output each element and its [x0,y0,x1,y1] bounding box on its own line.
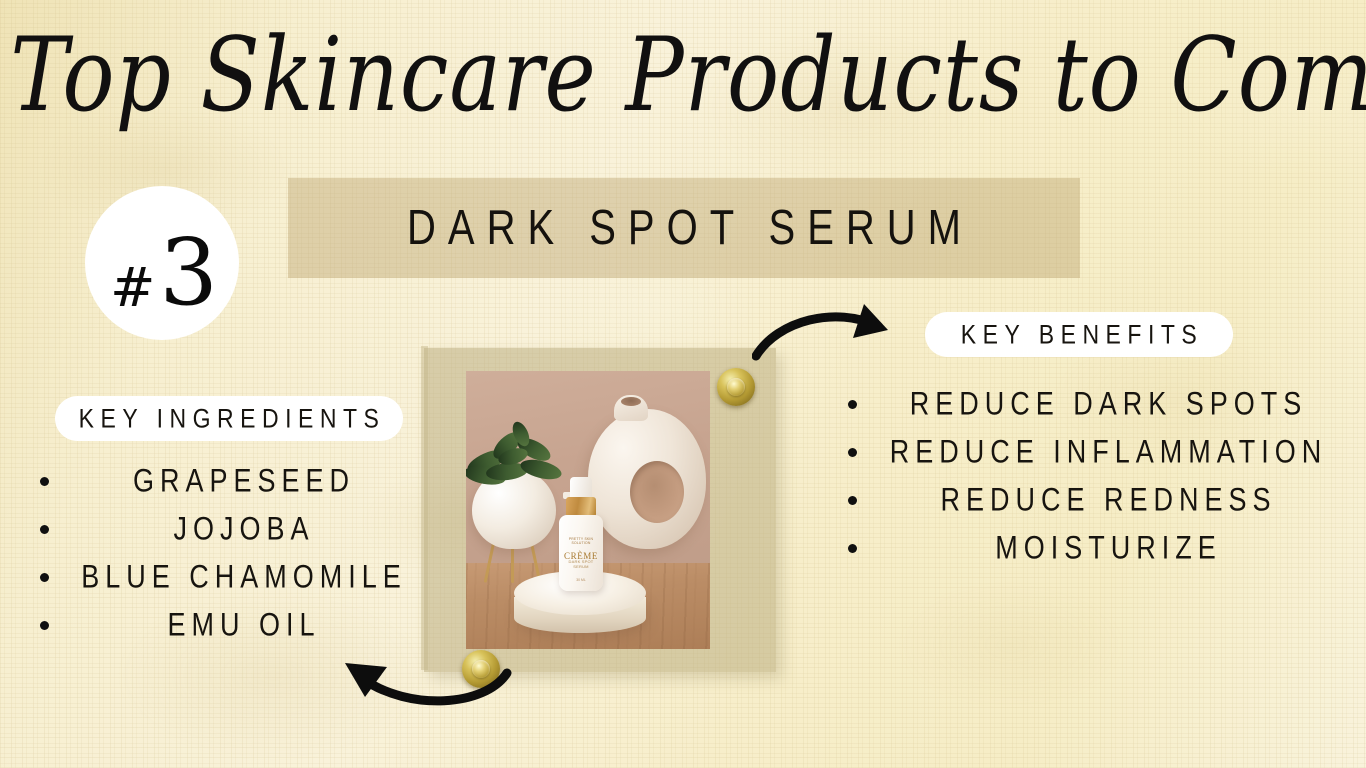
bullet-icon [848,496,857,505]
list-item: REDUCE DARK SPOTS [848,380,1338,428]
key-benefits-list: REDUCE DARK SPOTS REDUCE INFLAMMATION RE… [848,380,1338,572]
bullet-icon [40,477,49,486]
photo-vase-hole [630,461,684,523]
key-ingredients-pill: KEY INGREDIENTS [55,396,403,441]
curved-arrow-left-icon [335,645,515,720]
list-item: BLUE CHAMOMILE [40,553,415,601]
bullet-icon [40,525,49,534]
photo-vase-neck [614,395,648,421]
list-item: REDUCE INFLAMMATION [848,428,1338,476]
photo-succulent-plant [466,423,568,487]
curved-arrow-right-icon [752,300,912,375]
key-benefits-label: KEY BENEFITS [955,319,1203,351]
photo-bottle-pump [570,477,592,499]
list-item: JOJOBA [40,505,415,553]
bullet-icon [848,544,857,553]
photo-bottle-body: PRETTY SKIN SOLUTION CRÈME DARK SPOT SER… [559,515,603,591]
ingredient-label: EMU OIL [67,606,415,643]
product-title-banner: DARK SPOT SERUM [288,178,1080,278]
rank-hash-symbol: # [110,261,155,315]
bullet-icon [848,448,857,457]
rank-badge-inner: # 3 [110,223,218,315]
list-item: EMU OIL [40,601,415,649]
bullet-icon [848,400,857,409]
benefit-label: REDUCE REDNESS [873,481,1338,518]
list-item: GRAPESEED [40,457,415,505]
rank-number: 3 [159,227,218,319]
key-ingredients-list: GRAPESEED JOJOBA BLUE CHAMOMILE EMU OIL [40,457,415,649]
product-photo: PRETTY SKIN SOLUTION CRÈME DARK SPOT SER… [466,371,710,649]
list-item: REDUCE REDNESS [848,476,1338,524]
ingredient-label: GRAPESEED [67,462,415,499]
photo-bottle-size: 30 ML [561,578,601,582]
bullet-icon [40,621,49,630]
photo-bottle-gold-collar [566,497,596,517]
photo-bottle-brand: PRETTY SKIN SOLUTION [561,537,601,545]
key-ingredients-label: KEY INGREDIENTS [73,403,386,435]
benefit-label: MOISTURIZE [873,529,1338,566]
gold-brad-icon [717,368,755,406]
product-title: DARK SPOT SERUM [395,201,973,256]
poster-canvas: Top Skincare Products to Combat Breakout… [0,0,1366,768]
benefit-label: REDUCE INFLAMMATION [873,433,1338,470]
photo-bottle-sublabel: DARK SPOT SERUM [561,559,601,569]
photo-serum-bottle: PRETTY SKIN SOLUTION CRÈME DARK SPOT SER… [559,469,603,591]
ingredient-label: BLUE CHAMOMILE [67,558,415,595]
key-benefits-pill: KEY BENEFITS [925,312,1233,357]
bullet-icon [40,573,49,582]
ingredient-label: JOJOBA [67,510,415,547]
benefit-label: REDUCE DARK SPOTS [873,385,1338,422]
rank-badge: # 3 [85,186,239,340]
list-item: MOISTURIZE [848,524,1338,572]
page-title: Top Skincare Products to Combat Breakout… [10,22,1356,129]
photo-donut-vase [588,409,706,549]
